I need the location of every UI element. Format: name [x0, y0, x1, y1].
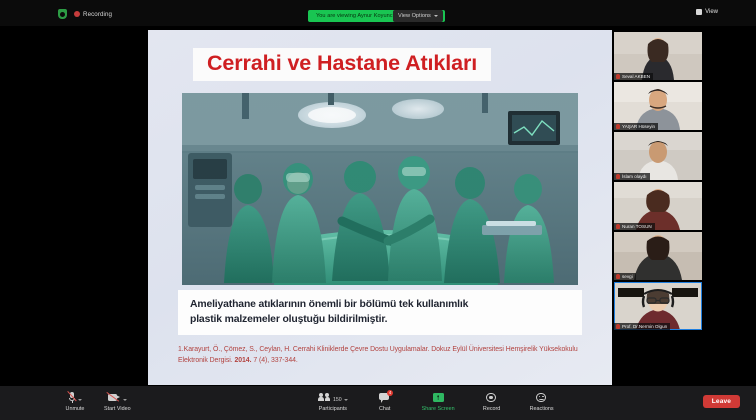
slide-body-box: Ameliyathane atıklarının önemli bir bölü… — [178, 290, 582, 335]
slide-title: Cerrahi ve Hastane Atıkları — [207, 51, 477, 76]
reactions-label: Reactions — [530, 406, 554, 412]
microphone-muted-icon — [616, 274, 620, 279]
meeting-top-bar: Recording You are viewing Aynur Koyuncu'… — [0, 0, 756, 26]
recording-label: Recording — [83, 11, 112, 18]
share-screen-icon — [433, 393, 444, 402]
microphone-muted-icon — [616, 224, 620, 229]
video-options-chevron-icon[interactable] — [123, 399, 127, 401]
unmute-button[interactable]: Unmute — [62, 390, 88, 412]
microphone-muted-icon — [616, 174, 620, 179]
chevron-down-icon — [434, 15, 438, 17]
chat-button[interactable]: 4 Chat — [372, 390, 398, 412]
shared-screen-stage[interactable]: Cerrahi ve Hastane Atıkları — [0, 26, 612, 386]
view-button-label: View — [705, 9, 718, 15]
participant-name-badge: sevgi — [614, 273, 636, 280]
emoji-reaction-icon — [536, 392, 547, 403]
microphone-muted-icon — [616, 324, 620, 329]
participant-tile[interactable]: Nuran TOSUN — [614, 182, 702, 230]
start-video-label: Start Video — [104, 406, 131, 412]
participant-tile[interactable]: sevgi — [614, 232, 702, 280]
record-icon — [486, 392, 497, 403]
slide-title-box: Cerrahi ve Hastane Atıkları — [193, 48, 491, 81]
citation-year: 2014. — [234, 357, 251, 364]
participant-name: YAŞAR Hüseyin — [622, 124, 655, 129]
record-button[interactable]: Record — [479, 390, 505, 412]
slide-body-line-1: Ameliyathane atıklarının önemli bir bölü… — [190, 297, 572, 312]
participant-tile[interactable]: Seval AKBEN — [614, 32, 702, 80]
encryption-shield-icon[interactable] — [58, 9, 67, 19]
participants-button[interactable]: 150 Participants — [318, 390, 348, 412]
participant-tile-active-speaker[interactable]: Prof. Dr.Nermin Olgun — [614, 282, 702, 330]
participant-tile[interactable]: İslam olaydı — [614, 132, 702, 180]
participant-name-badge: İslam olaydı — [614, 173, 650, 180]
slide-body-line-2: plastik malzemeler oluştuğu bildirilmişt… — [190, 312, 572, 327]
reactions-button[interactable]: Reactions — [529, 390, 555, 412]
share-screen-label: Share Screen — [422, 406, 455, 412]
operating-room-photo — [182, 93, 578, 285]
slide-citation: 1.Karayurt, Ö., Çömez, S., Ceylan, H. Ce… — [178, 344, 590, 366]
recording-status[interactable]: Recording — [74, 11, 112, 18]
participants-label: Participants — [319, 406, 347, 412]
chat-bubble-icon: 4 — [379, 392, 391, 403]
view-layout-button[interactable]: View — [696, 9, 718, 15]
record-dot-icon — [74, 11, 80, 17]
view-options-label: View Options — [398, 13, 431, 19]
participants-chevron-icon[interactable] — [344, 399, 348, 401]
share-screen-button[interactable]: Share Screen — [422, 390, 455, 412]
participant-name-badge: Seval AKBEN — [614, 73, 653, 80]
participant-name: Prof. Dr.Nermin Olgun — [622, 324, 667, 329]
microphone-muted-icon — [69, 392, 76, 404]
microphone-muted-icon — [616, 124, 620, 129]
participant-name: Nuran TOSUN — [622, 224, 652, 229]
participant-name: İslam olaydı — [622, 174, 647, 179]
camera-muted-icon — [108, 393, 121, 402]
participant-tile[interactable]: YAŞAR Hüseyin — [614, 82, 702, 130]
grid-view-icon — [696, 9, 702, 15]
participant-name-badge: Nuran TOSUN — [614, 223, 655, 230]
view-options-button[interactable]: View Options — [393, 10, 443, 22]
zoom-meeting-window: Recording You are viewing Aynur Koyuncu'… — [0, 0, 756, 420]
microphone-muted-icon — [616, 74, 620, 79]
presentation-slide: Cerrahi ve Hastane Atıkları — [148, 30, 612, 385]
start-video-button[interactable]: Start Video — [104, 390, 131, 412]
participants-count: 150 — [333, 397, 342, 403]
recording-indicator-group: Recording — [58, 9, 112, 19]
chat-unread-badge: 4 — [387, 390, 393, 396]
participant-name: sevgi — [622, 274, 633, 279]
audio-options-chevron-icon[interactable] — [78, 399, 82, 401]
participant-thumbnail-strip[interactable]: Seval AKBEN YAŞAR Hüseyin — [612, 26, 756, 386]
citation-suffix: 7 (4), 337-344. — [251, 357, 297, 364]
people-icon — [318, 393, 331, 403]
participant-name-badge: YAŞAR Hüseyin — [614, 123, 658, 130]
participant-name: Seval AKBEN — [622, 74, 650, 79]
record-label: Record — [483, 406, 500, 412]
chat-label: Chat — [379, 406, 390, 412]
leave-meeting-button[interactable]: Leave — [703, 395, 740, 408]
unmute-label: Unmute — [66, 406, 85, 412]
meeting-controls-toolbar: Unmute Start Video 150 — [0, 386, 756, 420]
participant-name-badge: Prof. Dr.Nermin Olgun — [614, 323, 670, 330]
